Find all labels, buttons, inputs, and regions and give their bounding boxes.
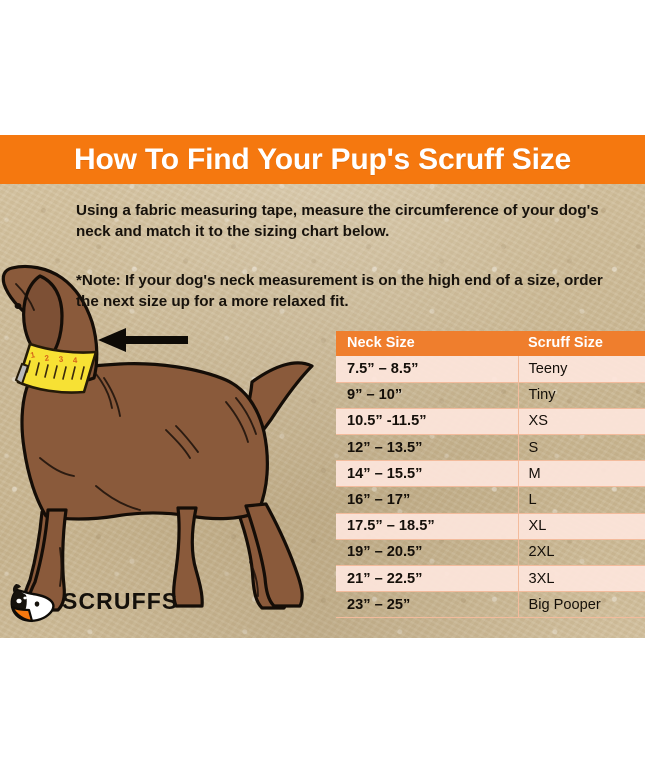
- instruction-note: *Note: If your dog's neck measurement is…: [76, 270, 621, 312]
- table-row: 10.5” -11.5”XS: [336, 408, 645, 434]
- brand-name: SCRUFFS: [62, 588, 178, 615]
- note-body: If your dog's neck measurement is on the…: [76, 272, 603, 310]
- cell-scruff-size: 2XL: [518, 539, 645, 565]
- measuring-tape: 1 2 3 4: [16, 344, 96, 393]
- cell-scruff-size: XS: [518, 408, 645, 434]
- cell-neck-size: 23” – 25”: [336, 592, 518, 618]
- table-row: 16” – 17”L: [336, 487, 645, 513]
- page-title: How To Find Your Pup's Scruff Size: [74, 143, 571, 177]
- note-label: *Note:: [76, 272, 121, 289]
- cell-scruff-size: 3XL: [518, 566, 645, 592]
- cell-neck-size: 17.5” – 18.5”: [336, 513, 518, 539]
- cell-neck-size: 12” – 13.5”: [336, 435, 518, 461]
- cell-neck-size: 16” – 17”: [336, 487, 518, 513]
- size-chart-table: Neck Size Scruff Size 7.5” – 8.5”Teeny9”…: [336, 331, 645, 618]
- dog-head-logo-icon: [10, 579, 56, 623]
- table-row: 21” – 22.5”3XL: [336, 566, 645, 592]
- logo-eye: [35, 601, 40, 606]
- table-row: 14” – 15.5”M: [336, 461, 645, 487]
- table-row: 12” – 13.5”S: [336, 435, 645, 461]
- table-row: 23” – 25”Big Pooper: [336, 592, 645, 618]
- table-body: 7.5” – 8.5”Teeny9” – 10”Tiny10.5” -11.5”…: [336, 356, 645, 618]
- table-row: 17.5” – 18.5”XL: [336, 513, 645, 539]
- dog-illustration: 1 2 3 4: [0, 262, 345, 622]
- cell-neck-size: 21” – 22.5”: [336, 566, 518, 592]
- cell-neck-size: 19” – 20.5”: [336, 539, 518, 565]
- cell-scruff-size: Big Pooper: [518, 592, 645, 618]
- cell-neck-size: 10.5” -11.5”: [336, 408, 518, 434]
- cell-scruff-size: L: [518, 487, 645, 513]
- size-chart-page: How To Find Your Pup's Scruff Size Using…: [0, 0, 645, 774]
- table-row: 9” – 10”Tiny: [336, 382, 645, 408]
- cell-neck-size: 14” – 15.5”: [336, 461, 518, 487]
- column-header-scruff-size: Scruff Size: [518, 331, 645, 356]
- cell-neck-size: 9” – 10”: [336, 382, 518, 408]
- cell-scruff-size: M: [518, 461, 645, 487]
- column-header-neck-size: Neck Size: [336, 331, 518, 356]
- cell-scruff-size: Tiny: [518, 382, 645, 408]
- table-row: 7.5” – 8.5”Teeny: [336, 356, 645, 382]
- table-row: 19” – 20.5”2XL: [336, 539, 645, 565]
- cell-scruff-size: S: [518, 435, 645, 461]
- title-bar: How To Find Your Pup's Scruff Size: [0, 135, 645, 184]
- cell-scruff-size: Teeny: [518, 356, 645, 382]
- brand-logo: SCRUFFS: [10, 578, 178, 624]
- instruction-line-1: Using a fabric measuring tape, measure t…: [76, 200, 621, 242]
- cell-scruff-size: XL: [518, 513, 645, 539]
- pointer-arrow-icon: [96, 326, 188, 354]
- table-header-row: Neck Size Scruff Size: [336, 331, 645, 356]
- cell-neck-size: 7.5” – 8.5”: [336, 356, 518, 382]
- dog-eye: [15, 303, 22, 309]
